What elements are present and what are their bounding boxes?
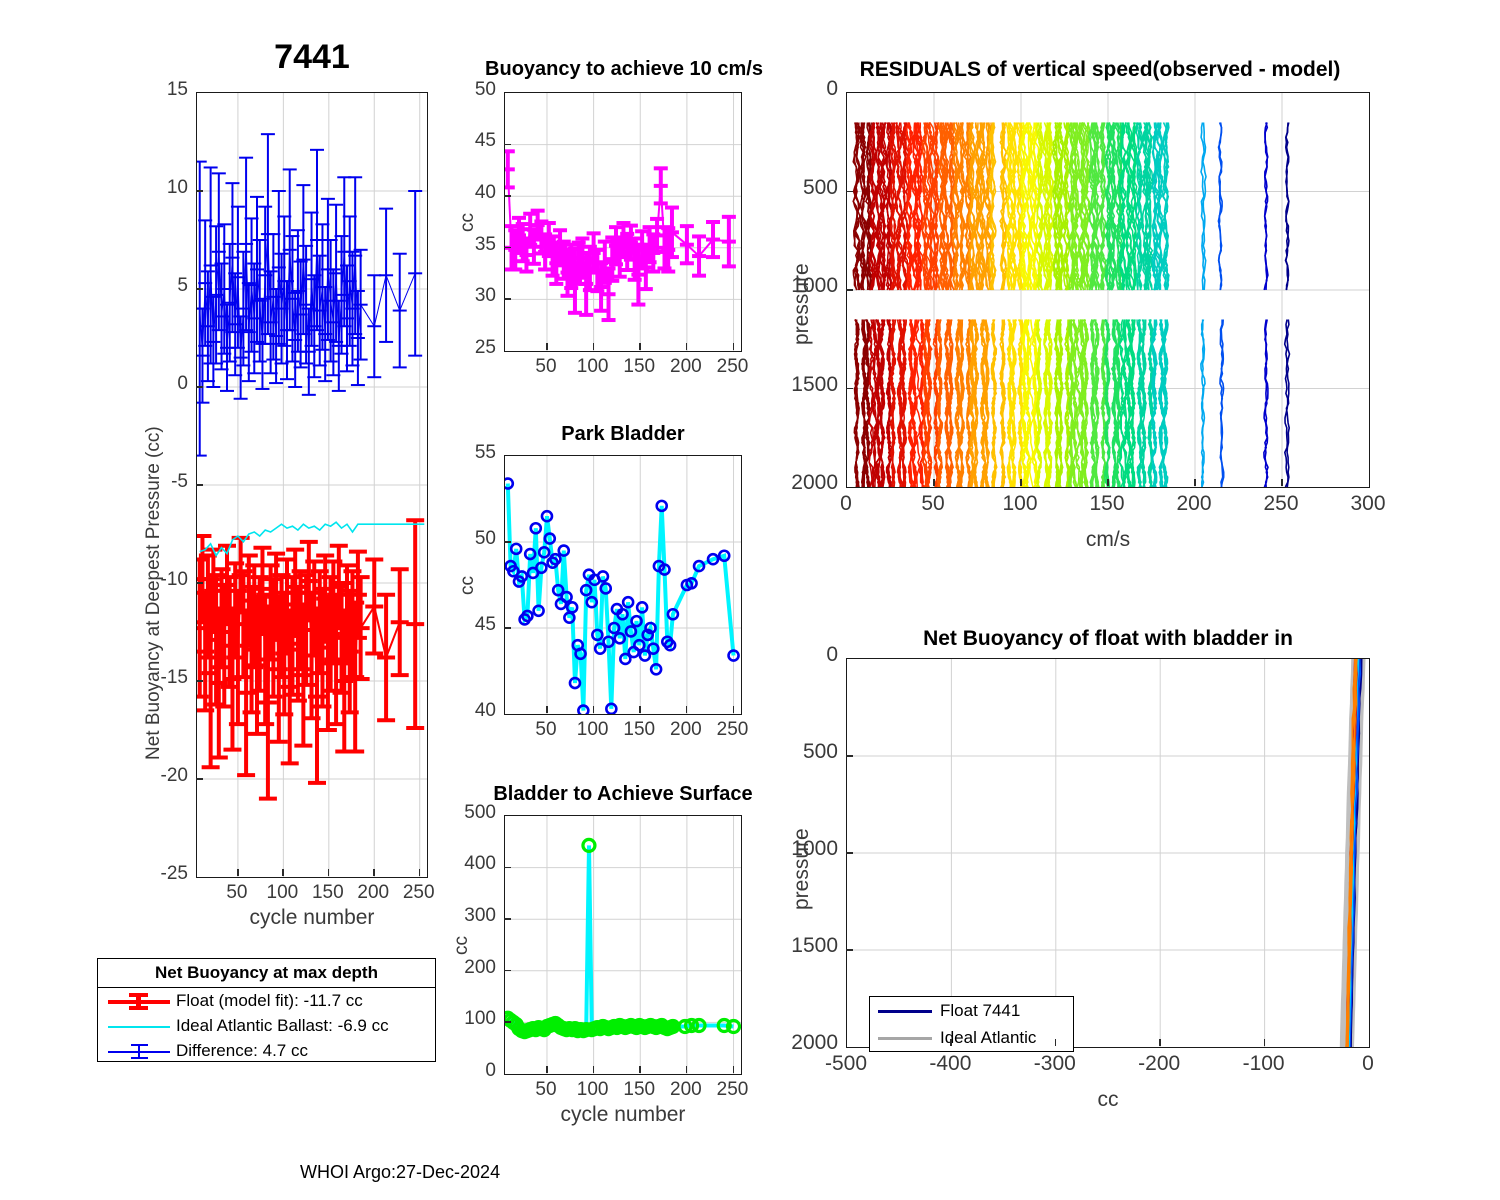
x-tick-label: -300: [1015, 1052, 1095, 1076]
y-tick-label: 100: [408, 1008, 496, 1030]
y-tick-label: 500: [408, 802, 496, 824]
axes-net-buoyancy-deepest: [196, 92, 428, 878]
y-tick-label: 0: [750, 643, 838, 667]
legend-line-ideal-atlantic: [878, 1037, 932, 1040]
legend-row-float7441: Float 7441: [870, 997, 1073, 1025]
axis-label-y-panel2: cc: [457, 213, 479, 232]
y-tick-mark: [504, 195, 511, 197]
axis-label-x-panel6: cc: [846, 1088, 1370, 1112]
footer-credit: WHOI Argo:27-Dec-2024: [300, 1162, 500, 1183]
y-tick-mark: [504, 970, 511, 972]
y-tick-label: 0: [408, 1060, 496, 1082]
legend-line-float7441: [878, 1010, 932, 1013]
x-tick-mark: [593, 1066, 595, 1073]
legend-label-float7441: Float 7441: [940, 1001, 1020, 1021]
x-tick-label: 300: [1328, 492, 1408, 516]
axis-label-x-panel1: cycle number: [196, 906, 428, 930]
y-tick-label: -25: [100, 863, 188, 885]
x-tick-mark: [1020, 479, 1022, 486]
y-tick-label: 2000: [750, 471, 838, 495]
y-tick-mark: [196, 680, 203, 682]
series-Difference: 4.7 cc: [197, 134, 422, 455]
legend-panel6: Float 7441 Ideal Atlantic: [869, 996, 1074, 1052]
plot-surface-residuals-vertical-speed: [847, 93, 1369, 487]
y-tick-label: 45: [408, 130, 496, 152]
axes-net-buoyancy-bladder-in: [846, 658, 1370, 1048]
x-tick-mark: [546, 1066, 548, 1073]
plot-surface-net-buoyancy-bladder-in: [847, 659, 1369, 1047]
buoyancy-profiles: [1346, 659, 1362, 1047]
y-tick-label: 55: [408, 442, 496, 464]
axes-bladder-surface: [504, 815, 742, 1075]
x-tick-mark: [639, 706, 641, 713]
y-tick-label: -20: [100, 765, 188, 787]
plot-surface-park-bladder: [505, 456, 741, 714]
y-tick-label: 35: [408, 234, 496, 256]
x-tick-label: -500: [806, 1052, 886, 1076]
y-tick-label: 30: [408, 285, 496, 307]
legend-errorbar-blue: [108, 1043, 170, 1059]
legend-line-cyan: [108, 1018, 170, 1034]
x-tick-mark: [1281, 479, 1283, 486]
y-tick-label: 15: [100, 79, 188, 101]
x-tick-label: 250: [693, 719, 773, 741]
axes-buoyancy-10cms: [504, 92, 742, 352]
y-tick-mark: [196, 778, 203, 780]
y-tick-mark: [846, 289, 853, 291]
x-tick-mark: [546, 343, 548, 350]
x-tick-mark: [950, 1039, 952, 1046]
x-tick-label: 150: [1067, 492, 1147, 516]
y-tick-label: 0: [100, 373, 188, 395]
x-tick-mark: [639, 1066, 641, 1073]
x-tick-mark: [546, 706, 548, 713]
y-tick-mark: [504, 541, 511, 543]
y-tick-label: 500: [750, 176, 838, 200]
y-tick-label: 400: [408, 853, 496, 875]
y-tick-mark: [846, 388, 853, 390]
x-tick-label: 250: [693, 1079, 773, 1101]
x-tick-mark: [1194, 479, 1196, 486]
x-tick-mark: [686, 706, 688, 713]
axis-label-x-panel4: cycle number: [504, 1103, 742, 1127]
x-tick-label: -200: [1119, 1052, 1199, 1076]
axes-residuals: [846, 92, 1370, 488]
y-tick-label: 200: [408, 957, 496, 979]
plot-surface-net-buoyancy-deepest: [197, 93, 427, 877]
legend-label-ideal-ballast: Ideal Atlantic Ballast: -6.9 cc: [176, 1016, 389, 1036]
y-tick-label: -10: [100, 569, 188, 591]
x-tick-mark: [686, 1066, 688, 1073]
y-tick-label: 1000: [750, 837, 838, 861]
x-tick-label: 250: [379, 882, 459, 904]
x-tick-label: 0: [1328, 1052, 1408, 1076]
legend-row-float-model-fit: Float (model fit): -11.7 cc: [98, 988, 435, 1013]
y-tick-label: 1500: [750, 373, 838, 397]
title-bladder-surface: Bladder to Achieve Surface: [452, 783, 794, 806]
y-tick-mark: [196, 288, 203, 290]
series-bladder to surface: [508, 845, 734, 1031]
y-tick-mark: [846, 852, 853, 854]
x-tick-mark: [733, 1066, 735, 1073]
legend-label-difference: Difference: 4.7 cc: [176, 1041, 308, 1061]
y-tick-label: -5: [100, 471, 188, 493]
plot-surface-buoyancy-10cms: [505, 93, 741, 351]
y-tick-label: 0: [750, 77, 838, 101]
y-tick-label: 5: [100, 275, 188, 297]
y-tick-mark: [504, 1021, 511, 1023]
x-tick-mark: [1055, 1039, 1057, 1046]
residual-profiles: [853, 123, 1289, 488]
y-tick-label: 500: [750, 740, 838, 764]
legend-row-ideal-atlantic: Ideal Atlantic: [870, 1025, 1073, 1051]
y-tick-mark: [504, 627, 511, 629]
y-tick-mark: [846, 191, 853, 193]
axis-label-y-panel4: cc: [451, 936, 473, 955]
x-tick-mark: [933, 479, 935, 486]
x-tick-mark: [237, 869, 239, 876]
x-tick-mark: [282, 869, 284, 876]
y-tick-label: 2000: [750, 1031, 838, 1055]
axis-label-x-panel5: cm/s: [846, 528, 1370, 552]
y-tick-mark: [504, 144, 511, 146]
y-tick-label: 25: [408, 337, 496, 359]
legend-label-float-model-fit: Float (model fit): -11.7 cc: [176, 991, 363, 1011]
x-tick-mark: [733, 343, 735, 350]
y-tick-label: 1500: [750, 934, 838, 958]
y-tick-label: 300: [408, 905, 496, 927]
title-net-buoyancy-bladder-in: Net Buoyancy of float with bladder in: [846, 627, 1370, 651]
x-tick-label: 0: [806, 492, 886, 516]
x-tick-mark: [733, 706, 735, 713]
series-Ideal Atlantic Ballast: -6.9 cc: [200, 522, 425, 555]
markers-bladder to surface: [505, 839, 740, 1037]
series-buoyancy-errorbars: [505, 151, 736, 320]
x-tick-mark: [1159, 1039, 1161, 1046]
y-tick-label: 45: [408, 614, 496, 636]
x-tick-mark: [593, 706, 595, 713]
y-tick-mark: [504, 867, 511, 869]
y-tick-mark: [504, 918, 511, 920]
axis-label-y-panel3: cc: [457, 576, 479, 595]
legend-row-ideal-ballast: Ideal Atlantic Ballast: -6.9 cc: [98, 1013, 435, 1038]
main-title: 7441: [196, 38, 428, 77]
y-tick-mark: [846, 949, 853, 951]
x-tick-label: 250: [1241, 492, 1321, 516]
y-tick-mark: [504, 247, 511, 249]
legend-label-ideal-atlantic: Ideal Atlantic: [940, 1028, 1036, 1048]
y-tick-label: 10: [100, 177, 188, 199]
title-residuals: RESIDUALS of vertical speed(observed - m…: [820, 58, 1380, 82]
legend-net-buoyancy-max-depth: Net Buoyancy at max depth Float (model f…: [97, 958, 436, 1062]
axes-park-bladder: [504, 455, 742, 715]
y-tick-label: 40: [408, 182, 496, 204]
y-tick-mark: [504, 298, 511, 300]
plot-surface-bladder-surface: [505, 816, 741, 1074]
x-tick-label: -400: [910, 1052, 990, 1076]
x-tick-mark: [686, 343, 688, 350]
y-tick-mark: [196, 484, 203, 486]
y-tick-label: 50: [408, 528, 496, 550]
x-tick-label: 100: [980, 492, 1060, 516]
legend-row-difference: Difference: 4.7 cc: [98, 1038, 435, 1063]
y-tick-mark: [846, 755, 853, 757]
y-tick-mark: [196, 582, 203, 584]
x-tick-mark: [328, 869, 330, 876]
legend-errorbar-red: [108, 993, 170, 1009]
y-tick-mark: [196, 386, 203, 388]
y-tick-label: -15: [100, 667, 188, 689]
x-tick-mark: [373, 869, 375, 876]
x-tick-label: 200: [1154, 492, 1234, 516]
title-park-bladder: Park Bladder: [504, 423, 742, 446]
x-tick-mark: [1264, 1039, 1266, 1046]
x-tick-mark: [639, 343, 641, 350]
y-tick-label: 1000: [750, 274, 838, 298]
legend-title: Net Buoyancy at max depth: [98, 959, 435, 988]
figure-canvas: 7441 Net Buoyancy at Deepest Pressure (c…: [0, 0, 1500, 1200]
y-tick-mark: [196, 190, 203, 192]
x-tick-label: -100: [1224, 1052, 1304, 1076]
series-Float (model fit): -11.7 cc: [197, 520, 424, 798]
x-tick-label: 50: [893, 492, 973, 516]
x-tick-mark: [593, 343, 595, 350]
y-tick-label: 50: [408, 79, 496, 101]
y-tick-label: 40: [408, 700, 496, 722]
x-tick-mark: [1107, 479, 1109, 486]
